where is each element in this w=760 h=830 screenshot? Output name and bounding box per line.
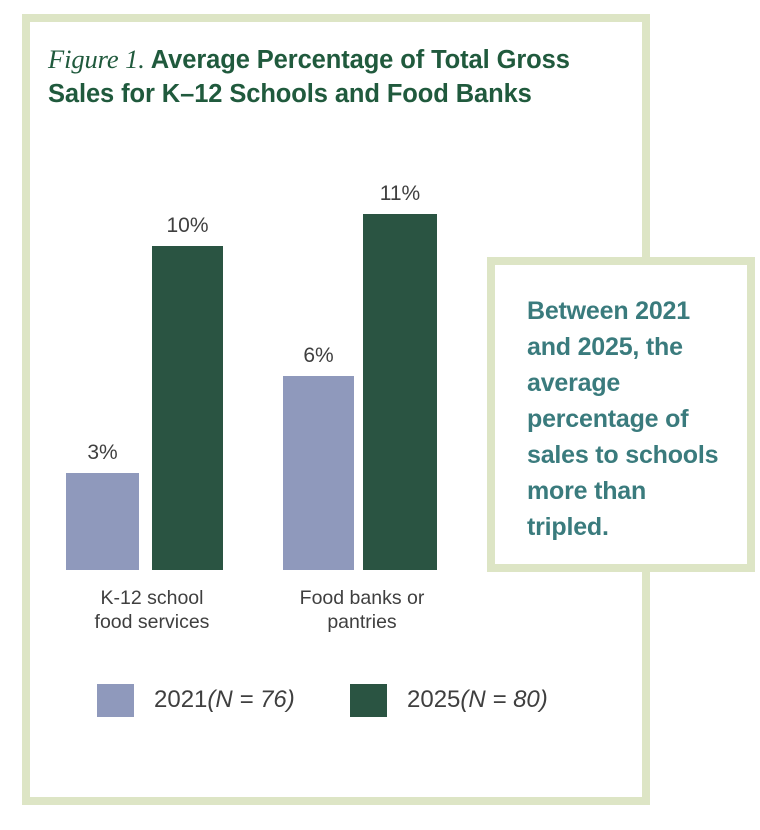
legend-label-2025: 2025(N = 80)	[407, 687, 548, 713]
figure-root: Figure 1. Average Percentage of Total Gr…	[0, 0, 760, 830]
x-axis-category-label: K-12 school food services	[42, 586, 262, 634]
legend-item-2025[interactable]: 2025(N = 80)	[350, 680, 548, 720]
bar-2025-food-banks-or-pantries[interactable]	[363, 214, 437, 570]
legend-swatch-icon-2025	[350, 684, 387, 717]
callout-box: Between 2021 and 2025, the average perce…	[487, 257, 755, 572]
bar-value-label: 11%	[338, 183, 462, 204]
bar-2025-k12-school-food-services[interactable]	[152, 246, 223, 570]
legend-n-2021: (N = 76)	[207, 686, 294, 713]
legend-n-2025: (N = 80)	[460, 686, 547, 713]
callout-text: Between 2021 and 2025, the average perce…	[527, 293, 732, 545]
bar-value-label: 6%	[258, 345, 379, 366]
bar-2021-food-banks-or-pantries[interactable]	[283, 376, 354, 570]
x-axis-category-label: Food banks or pantries	[252, 586, 472, 634]
bar-value-label: 10%	[127, 215, 248, 236]
bar-2021-k12-school-food-services[interactable]	[66, 473, 139, 570]
legend-label-2021: 2021(N = 76)	[154, 687, 295, 713]
legend-item-2021[interactable]: 2021(N = 76)	[97, 680, 295, 720]
legend-year-2021: 2021	[154, 686, 207, 713]
bar-value-label: 3%	[41, 442, 164, 463]
chart-legend: 2021(N = 76) 2025(N = 80)	[97, 680, 597, 724]
legend-swatch-icon-2021	[97, 684, 134, 717]
legend-year-2025: 2025	[407, 686, 460, 713]
